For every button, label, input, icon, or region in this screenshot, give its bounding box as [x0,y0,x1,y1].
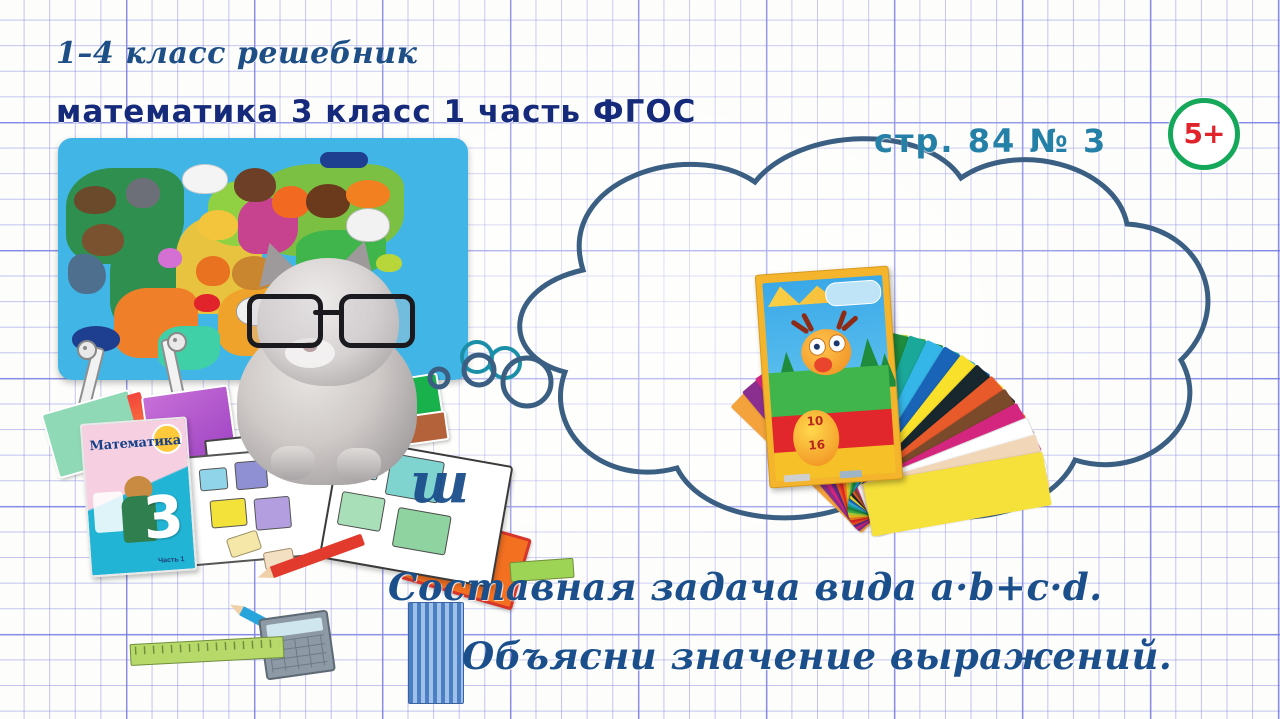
textbook-kids-art [93,491,126,533]
age-rating-badge: 5+ [1168,98,1240,170]
animal-brown-bear [306,184,350,218]
cat-with-glasses [225,250,430,485]
task-caption-line-2: Объясни значение выражений. [462,634,1172,678]
stand-joint-1 [77,340,97,360]
paper-pack-cover: 10 16 [755,266,904,489]
decorative-script-letter: ш [410,450,469,516]
age-rating-label: 5+ [1184,120,1225,148]
textbook-grade-number: 3 [141,487,185,548]
stand-joint-2 [167,332,187,352]
page-subtitle: 1–4 класс решебник [56,36,417,71]
eyeglasses-icon [247,294,413,338]
animal-fox [272,186,310,218]
animal-dolphin [68,254,106,294]
animal-submarine [320,152,368,168]
cat-paw-right [337,448,381,482]
animal-tiger [346,180,390,208]
cat-paw-left [271,446,315,480]
colors-count: 16 [793,436,840,453]
animal-crab [194,294,220,312]
textbook-part-label: Часть 1 [158,556,185,565]
slide-canvas: Математика 3 Часть 1 [0,0,1280,719]
animal-polar-bear [182,164,228,194]
page-title: математика 3 класс 1 часть ФГОС [56,94,696,130]
animal-moose [234,168,276,202]
sheets-count: 10 [792,412,839,429]
page-reference: стр. 84 № 3 [874,122,1107,160]
animal-treasure [158,248,182,268]
animal-buffalo [74,186,116,214]
animal-eagle [82,224,124,256]
animal-lion [198,210,238,240]
task-caption-line-1: Составная задача вида a·b+c·d. [388,565,1103,609]
math-textbook: Математика 3 Часть 1 [80,416,197,577]
colored-paper-pack: 10 16 [738,196,1068,506]
binder-spine [408,602,464,704]
animal-raccoon [126,178,160,208]
brand-logo-bubble [824,279,882,307]
